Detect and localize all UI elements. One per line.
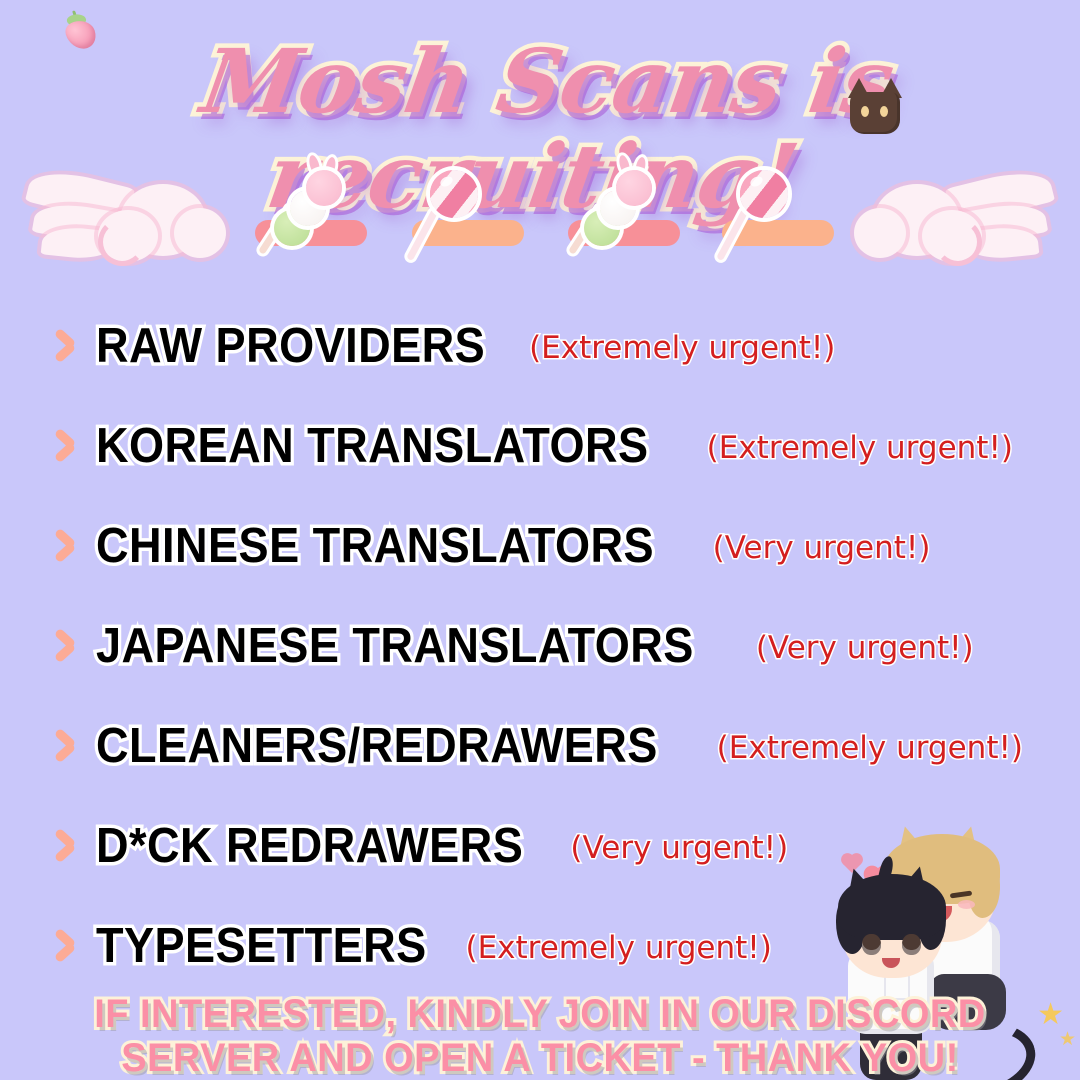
role-name: CHINESE TRANSLATORS [96, 518, 654, 574]
list-item: CLEANERS/REDRAWERS (Extremely urgent!) [0, 696, 1080, 796]
blond-blush-right [958, 900, 975, 909]
role-urgency-badge: (Very urgent!) [570, 830, 788, 866]
role-urgency-badge: (Very urgent!) [756, 630, 974, 666]
chevron-right-icon [52, 925, 78, 967]
list-item: KOREAN TRANSLATORS (Extremely urgent!) [0, 396, 1080, 496]
lollipop-icon [412, 166, 498, 266]
lollipop-icon [722, 166, 808, 266]
chevron-right-icon [52, 825, 78, 867]
dark-eye-left [862, 934, 881, 955]
role-urgency-badge: (Extremely urgent!) [529, 330, 835, 366]
role-urgency-badge: (Extremely urgent!) [717, 730, 1023, 766]
role-name: JAPANESE TRANSLATORS [96, 618, 694, 674]
chevron-right-icon [52, 725, 78, 767]
pixel-cat-head-icon [844, 78, 906, 134]
footer-line-2: SERVER AND OPEN A TICKET - THANK YOU! [27, 1036, 1053, 1080]
role-urgency-badge: (Very urgent!) [713, 530, 931, 566]
chevron-right-icon [52, 325, 78, 367]
chevron-right-icon [52, 625, 78, 667]
decorative-divider [0, 160, 1080, 280]
winged-cloud-right-icon [856, 166, 1056, 274]
list-item: JAPANESE TRANSLATORS (Very urgent!) [0, 596, 1080, 696]
dark-hair [838, 874, 946, 940]
bunny-dango-icon [262, 164, 354, 260]
role-name: TYPESETTERS [96, 918, 427, 974]
role-urgency-badge: (Extremely urgent!) [707, 430, 1013, 466]
footer-line-1: IF INTERESTED, KINDLY JOIN IN OUR DISCOR… [27, 992, 1053, 1036]
chevron-right-icon [52, 425, 78, 467]
role-name: D*CK REDRAWERS [96, 818, 523, 874]
list-item: CHINESE TRANSLATORS (Very urgent!) [0, 496, 1080, 596]
bunny-dango-icon [572, 164, 664, 260]
dark-eye-right [902, 934, 921, 955]
role-name: CLEANERS/REDRAWERS [96, 718, 658, 774]
recruitment-poster: Mosh Scans is recruiting! [0, 0, 1080, 1080]
footer-call-to-action: IF INTERESTED, KINDLY JOIN IN OUR DISCOR… [0, 992, 1080, 1080]
title-banner: Mosh Scans is recruiting! [0, 34, 1080, 154]
role-urgency-badge: (Extremely urgent!) [465, 930, 771, 966]
chevron-right-icon [52, 525, 78, 567]
list-item: RAW PROVIDERS (Extremely urgent!) [0, 296, 1080, 396]
winged-cloud-left-icon [24, 166, 224, 274]
role-name: RAW PROVIDERS [96, 318, 485, 374]
role-name: KOREAN TRANSLATORS [96, 418, 649, 474]
